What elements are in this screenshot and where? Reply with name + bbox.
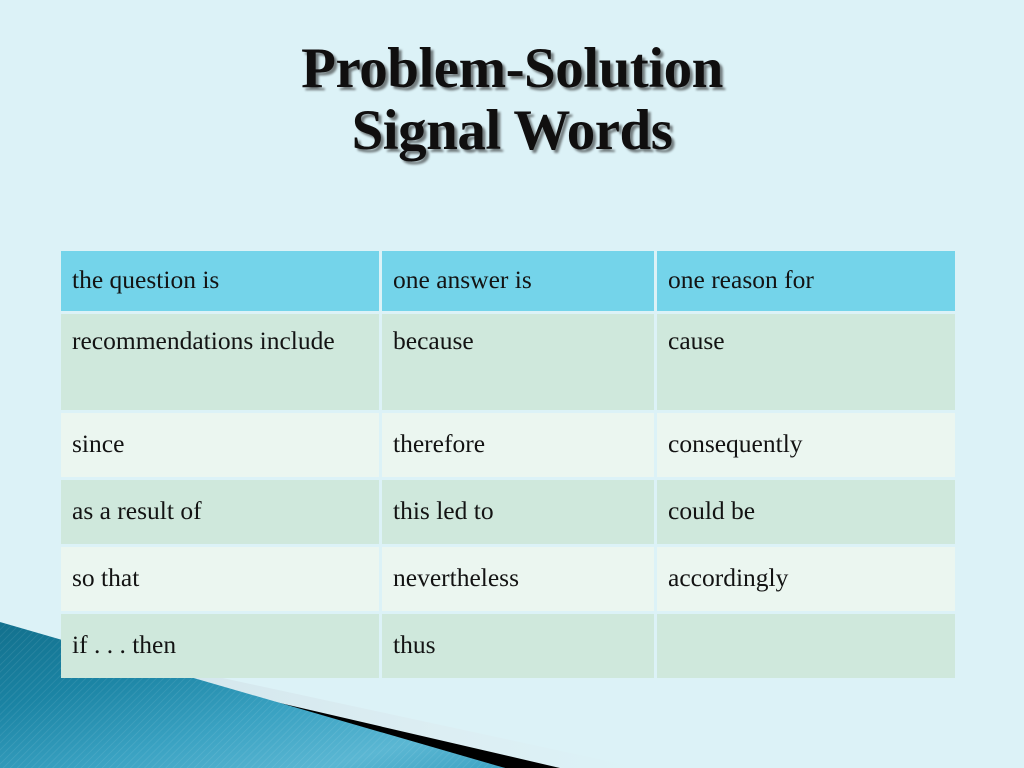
signal-words-table: the question is one answer is one reason… (58, 248, 958, 681)
table-cell: cause (657, 314, 955, 410)
table-cell: accordingly (657, 547, 955, 611)
page-title-line-1: Problem-Solution (0, 38, 1024, 100)
column-header-1: the question is (61, 251, 379, 311)
table-cell: therefore (382, 413, 654, 477)
table-cell: as a result of (61, 480, 379, 544)
page-title-line-2: Signal Words (0, 100, 1024, 162)
table-cell: thus (382, 614, 654, 678)
table-row: since therefore consequently (61, 413, 955, 477)
table-cell: nevertheless (382, 547, 654, 611)
column-header-3: one reason for (657, 251, 955, 311)
page-title: Problem-Solution Signal Words (0, 38, 1024, 161)
column-header-2: one answer is (382, 251, 654, 311)
table-cell: because (382, 314, 654, 410)
table-row: recommendations include because cause (61, 314, 955, 410)
table-header-row: the question is one answer is one reason… (61, 251, 955, 311)
table-cell: since (61, 413, 379, 477)
table-cell: this led to (382, 480, 654, 544)
table-cell: if . . . then (61, 614, 379, 678)
table-cell (657, 614, 955, 678)
table-cell: could be (657, 480, 955, 544)
table-cell: recommendations include (61, 314, 379, 410)
table-cell: consequently (657, 413, 955, 477)
table-row: if . . . then thus (61, 614, 955, 678)
slide-canvas: Problem-Solution Signal Words the questi… (0, 0, 1024, 768)
table-cell: so that (61, 547, 379, 611)
table-row: as a result of this led to could be (61, 480, 955, 544)
table-row: so that nevertheless accordingly (61, 547, 955, 611)
